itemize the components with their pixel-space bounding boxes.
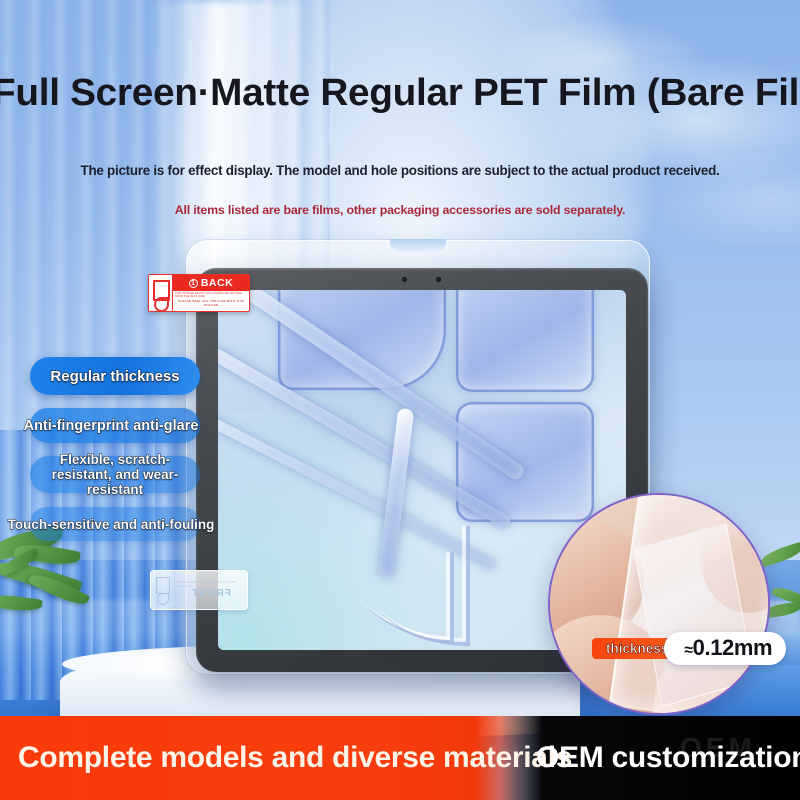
feature-pill-label: Flexible, scratch-resistant, and wear-re… — [30, 452, 200, 497]
feature-pill-touch-sensitive: Touch-sensitive and anti-fouling — [30, 507, 200, 541]
camera-dot-2 — [436, 277, 441, 282]
sticker-back-fineprint-1: THIS STICKER HELPS YOU LOCATE THE TOP SI… — [173, 291, 249, 298]
thickness-value: ≈0.12mm — [664, 632, 786, 665]
wallpaper-shape-1 — [456, 290, 594, 392]
thickness-number: 0.12mm — [693, 635, 773, 660]
banner-left-text: Complete models and diverse materials — [18, 716, 572, 800]
feature-pill-label: Touch-sensitive and anti-fouling — [8, 517, 215, 532]
front-tab-sticker: PLEASE PEEL OFF THE FILM WITH THIS STICK… — [150, 570, 248, 610]
peel-film-icon — [149, 275, 173, 311]
feature-pill-label: Regular thickness — [50, 368, 179, 385]
sticker-back-header: 1 BACK — [173, 275, 249, 291]
thickness-callout: thickness ≈0.12mm — [592, 630, 786, 666]
camera-dot-1 — [402, 277, 407, 282]
page-title: Full Screen·Matte Regular PET Film (Bare… — [0, 72, 800, 115]
film-detail-inset — [548, 493, 770, 715]
step-number-badge: 1 — [189, 279, 198, 288]
film-camera-notch — [390, 239, 446, 251]
disclaimer-primary: The picture is for effect display. The m… — [0, 163, 800, 178]
sticker-front-fineprint: PLEASE PEEL OFF THE FILM WITH THIS STICK… — [175, 581, 247, 588]
sticker-back-fineprint-2: PLEASE PEEL OFF THE FILM WITH THIS STICK… — [173, 298, 249, 307]
feature-pill-scratch-resistant: Flexible, scratch-resistant, and wear-re… — [30, 456, 200, 493]
sticker-front-label: FRONT — [175, 588, 247, 599]
sticker-back-label: BACK — [201, 277, 233, 289]
feature-pill-regular-thickness: Regular thickness — [30, 357, 200, 395]
disclaimer-secondary: All items listed are bare films, other p… — [0, 203, 800, 217]
feature-pill-label: Anti-fingerprint anti-glare — [24, 418, 199, 434]
back-warning-sticker: 1 BACK THIS STICKER HELPS YOU LOCATE THE… — [148, 274, 250, 312]
peel-film-icon-front — [151, 571, 175, 609]
bottom-banner: OEM Complete models and diverse material… — [0, 716, 800, 800]
banner-right-text: OEM customization — [536, 716, 800, 800]
approx-symbol: ≈ — [684, 642, 692, 659]
product-banner-image: 1 BACK THIS STICKER HELPS YOU LOCATE THE… — [0, 0, 800, 800]
feature-pill-anti-fingerprint: Anti-fingerprint anti-glare — [30, 408, 200, 443]
